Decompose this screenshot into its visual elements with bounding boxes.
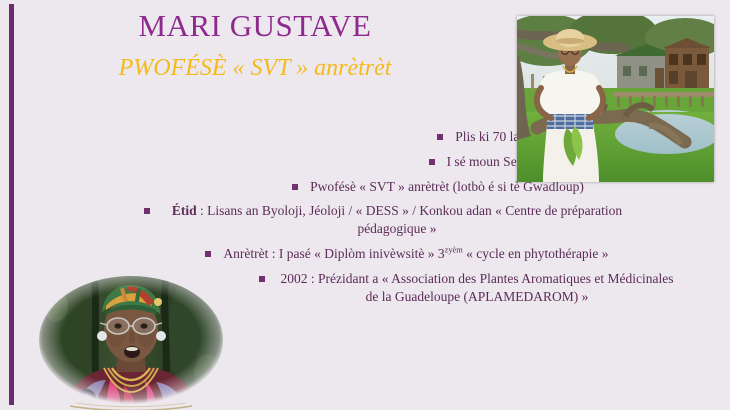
list-item-label: Étid : Lisans an Byoloji, Jéoloji / « DE…	[162, 202, 632, 238]
square-bullet-icon	[292, 184, 298, 190]
list-item: Étid : Lisans an Byoloji, Jéoloji / « DE…	[86, 202, 690, 238]
list-item-body-tail: « cycle en phytothérapie »	[463, 246, 609, 261]
page-subtitle: PWOFÉSÈ « SVT » anrètrèt	[0, 56, 510, 81]
square-bullet-icon	[429, 159, 435, 165]
presentation-slide: MARI GUSTAVE PWOFÉSÈ « SVT » anrètrèt Pl…	[0, 0, 730, 410]
square-bullet-icon	[205, 251, 211, 257]
square-bullet-icon	[259, 276, 265, 282]
square-bullet-icon	[144, 208, 150, 214]
elderly-woman-portrait-photo	[36, 276, 226, 410]
list-item-lead: Étid	[172, 203, 197, 218]
list-item-label: Anrètrèt : I pasé « Diplòm inivèwsitè » …	[223, 245, 608, 263]
list-item-body: : Lisans an Byoloji, Jéoloji / « DESS » …	[197, 203, 623, 236]
list-item-superscript: zyèm	[445, 246, 463, 255]
woman-in-white-dress-photo	[517, 16, 714, 182]
list-item: 2002 : Prézidant a « Association des Pla…	[246, 270, 690, 306]
list-item-label: 2002 : Prézidant a « Association des Pla…	[277, 270, 677, 306]
page-title: MARI GUSTAVE	[0, 10, 510, 43]
list-item: Anrètrèt : I pasé « Diplòm inivèwsitè » …	[124, 245, 690, 263]
list-item-body: Anrètrèt : I pasé « Diplòm inivèwsitè » …	[223, 246, 444, 261]
square-bullet-icon	[437, 134, 443, 140]
